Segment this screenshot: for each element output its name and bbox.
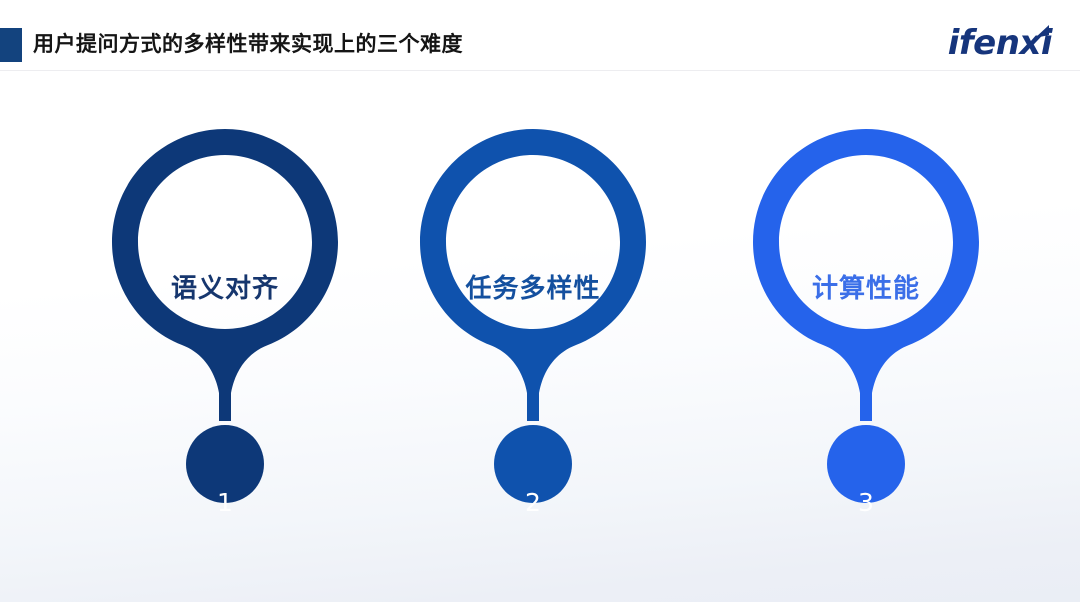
page-title: 用户提问方式的多样性带来实现上的三个难度: [33, 28, 463, 62]
title-accent-bar: [0, 28, 22, 62]
pin-label-2: 任务多样性: [383, 271, 683, 305]
pin-diagram: 语义对齐 1 任务多样性 2 计算性能 3: [0, 71, 1080, 602]
pin-marker-1[interactable]: 语义对齐 1: [75, 121, 375, 561]
pin-label-3: 计算性能: [716, 271, 1016, 305]
pin-number-3: 3: [716, 486, 1016, 520]
pin-number-2: 2: [383, 486, 683, 520]
arrow-up-right-icon: [1032, 24, 1052, 40]
pin-marker-2[interactable]: 任务多样性 2: [383, 121, 683, 561]
slide: 用户提问方式的多样性带来实现上的三个难度 ifenxi 语义对齐 1 任务多样性: [0, 0, 1080, 602]
pin-label-1: 语义对齐: [75, 271, 375, 305]
brand-logo: ifenxi: [918, 22, 1058, 64]
slide-header: 用户提问方式的多样性带来实现上的三个难度 ifenxi: [0, 0, 1080, 71]
pin-marker-3[interactable]: 计算性能 3: [716, 121, 1016, 561]
pin-number-1: 1: [75, 486, 375, 520]
